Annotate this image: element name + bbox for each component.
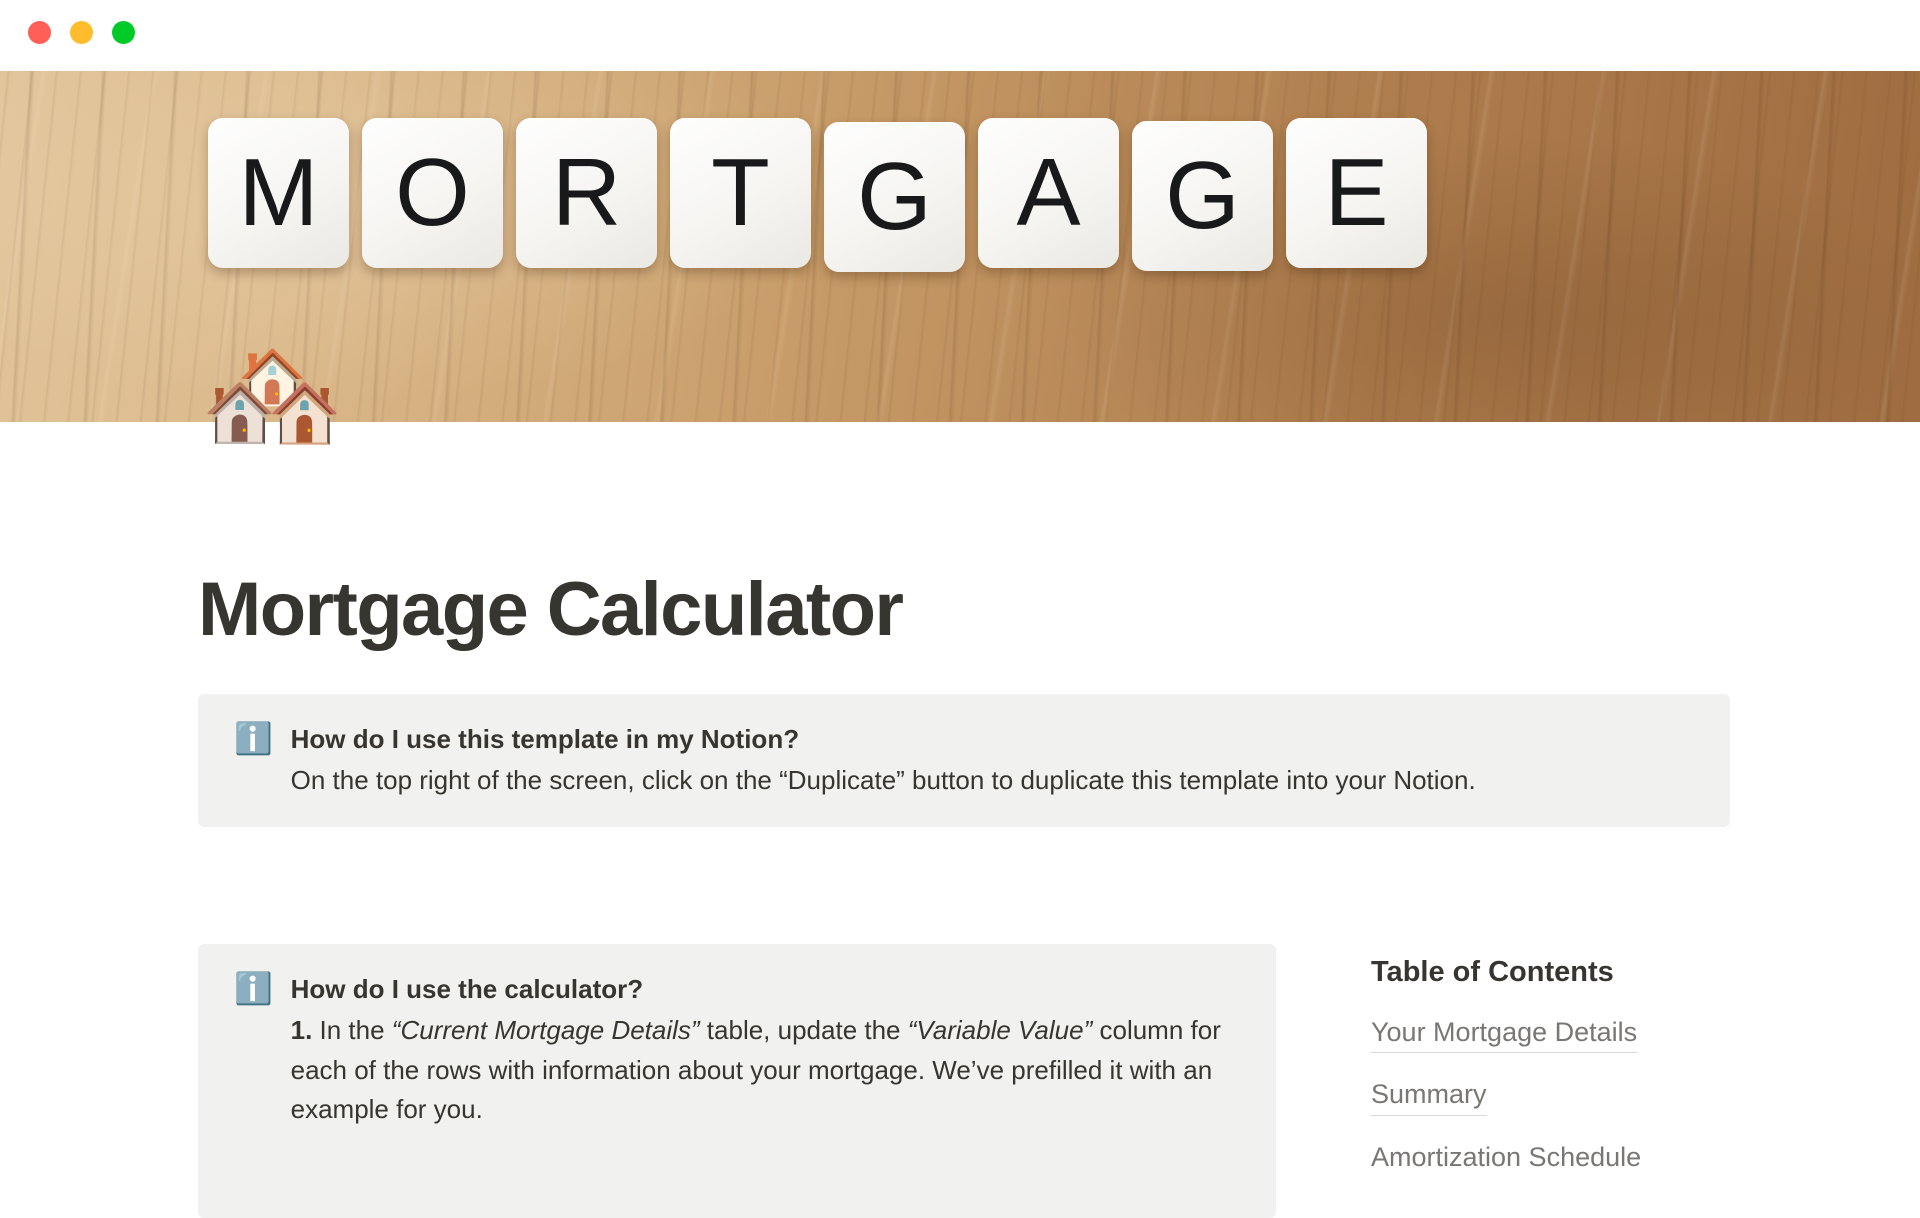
callout-heading: How do I use this template in my Notion? xyxy=(291,720,1696,759)
letter-tile: E xyxy=(1286,118,1427,268)
close-window-button[interactable] xyxy=(28,21,51,44)
letter-tile: T xyxy=(670,118,811,268)
letter-tile: A xyxy=(978,118,1119,268)
callout-emphasis: “Current Mortgage Details” xyxy=(392,1015,700,1045)
callout-how-to-use-calculator[interactable]: ℹ️ How do I use the calculator? 1. In th… xyxy=(198,944,1276,1218)
info-icon: ℹ️ xyxy=(234,970,273,1192)
page-title[interactable]: Mortgage Calculator xyxy=(198,572,902,648)
letter-tile: G xyxy=(824,122,965,272)
callout-heading: How do I use the calculator? xyxy=(291,970,1242,1009)
toc-link-summary[interactable]: Summary xyxy=(1371,1077,1487,1116)
mortgage-letter-tiles: M O R T G A G E xyxy=(208,118,1427,272)
houses-emoji-page-icon[interactable]: 🏘️ xyxy=(200,338,344,454)
callout-text-segment: In the xyxy=(312,1015,392,1045)
window-controls xyxy=(28,21,135,44)
toc-heading: Table of Contents xyxy=(1371,954,1791,992)
letter-tile: O xyxy=(362,118,503,268)
minimize-window-button[interactable] xyxy=(70,21,93,44)
letter-tile: G xyxy=(1132,121,1273,271)
letter-tile: R xyxy=(516,118,657,268)
callout-text: On the top right of the screen, click on… xyxy=(291,761,1696,801)
callout-body: How do I use this template in my Notion?… xyxy=(291,720,1696,801)
table-of-contents: Table of Contents Your Mortgage Details … xyxy=(1371,954,1791,1201)
maximize-window-button[interactable] xyxy=(112,21,135,44)
toc-link-your-mortgage-details[interactable]: Your Mortgage Details xyxy=(1371,1015,1637,1054)
letter-tile: M xyxy=(208,118,349,268)
step-number: 1. xyxy=(291,1015,313,1045)
info-icon: ℹ️ xyxy=(234,720,273,801)
callout-emphasis: “Variable Value” xyxy=(908,1015,1093,1045)
callout-text-segment: table, update the xyxy=(700,1015,908,1045)
callout-text: 1. In the “Current Mortgage Details” tab… xyxy=(291,1011,1242,1130)
toc-link-amortization-schedule[interactable]: Amortization Schedule xyxy=(1371,1140,1641,1178)
callout-duplicate-template[interactable]: ℹ️ How do I use this template in my Noti… xyxy=(198,694,1730,827)
callout-body: How do I use the calculator? 1. In the “… xyxy=(291,970,1242,1192)
window-titlebar xyxy=(0,0,1920,71)
